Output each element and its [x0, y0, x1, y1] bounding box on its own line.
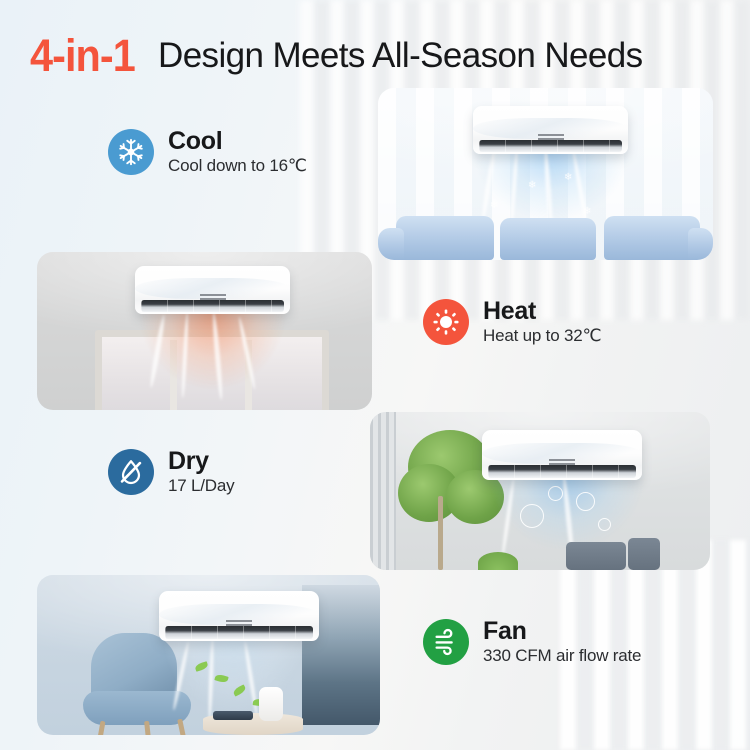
snow-particle: ❄	[490, 200, 498, 211]
headline-text: Design Meets All-Season Needs	[158, 36, 643, 76]
ac-unit	[135, 266, 290, 314]
remote-control	[213, 711, 253, 720]
feature-title: Heat	[483, 298, 601, 324]
photo-panel-heat	[37, 252, 372, 410]
window-frame	[95, 330, 329, 410]
floor-plant	[478, 552, 518, 570]
sofa-cushion	[628, 538, 660, 570]
window-pane	[252, 337, 322, 410]
infographic-stage: 4-in-1 Design Meets All-Season Needs ❄ ❄…	[0, 0, 750, 750]
snow-particle: ❄	[528, 180, 536, 191]
snowflake-icon	[108, 129, 154, 175]
moisture-bubble	[520, 504, 544, 528]
dry-wall-molding	[370, 412, 396, 570]
photo-panel-fan	[37, 575, 380, 735]
photo-panel-dry	[370, 412, 710, 570]
air-purifier	[259, 687, 283, 721]
feature-subtitle: 330 CFM air flow rate	[483, 646, 641, 666]
mountain-ridge	[302, 631, 380, 725]
feature-title: Fan	[483, 618, 641, 644]
feature-block-cool: Cool Cool down to 16℃	[108, 128, 307, 176]
chair-leg	[177, 719, 186, 735]
ac-vent	[488, 465, 635, 478]
ac-vent	[165, 626, 312, 639]
feature-block-heat: Heat Heat up to 32℃	[423, 298, 601, 346]
feature-subtitle: Heat up to 32℃	[483, 326, 601, 346]
feature-block-fan: Fan 330 CFM air flow rate	[423, 618, 641, 666]
feature-text-heat: Heat Heat up to 32℃	[483, 298, 601, 346]
feature-text-fan: Fan 330 CFM air flow rate	[483, 618, 641, 666]
wind-icon	[423, 619, 469, 665]
feature-title: Dry	[168, 448, 234, 474]
feature-text-cool: Cool Cool down to 16℃	[168, 128, 307, 176]
feature-subtitle: Cool down to 16℃	[168, 156, 307, 176]
ac-unit	[159, 591, 319, 641]
ac-vent	[479, 140, 622, 152]
snow-particle: ❄	[583, 206, 591, 217]
feature-block-dry: Dry 17 L/Day	[108, 448, 234, 496]
sofa-arm	[688, 228, 713, 260]
photo-panel-cool: ❄ ❄ ❄ ❄ ❄	[378, 88, 713, 260]
sofa-cushion	[604, 216, 700, 260]
sofa-cushion	[500, 218, 596, 260]
page-title: 4-in-1 Design Meets All-Season Needs	[30, 28, 730, 84]
feature-title: Cool	[168, 128, 307, 154]
feature-subtitle: 17 L/Day	[168, 476, 234, 496]
moisture-bubble	[576, 492, 595, 511]
headline-accent: 4-in-1	[30, 30, 135, 82]
water-drop-off-icon	[108, 449, 154, 495]
sofa-arm	[378, 228, 404, 260]
sun-icon	[423, 299, 469, 345]
sofa-seat	[566, 542, 626, 570]
tree-trunk	[438, 496, 443, 570]
ac-vent	[141, 300, 284, 312]
ac-unit	[473, 106, 628, 154]
plant-leaves	[478, 552, 518, 570]
snow-particle: ❄	[564, 172, 572, 183]
feature-text-dry: Dry 17 L/Day	[168, 448, 234, 496]
moisture-bubble	[548, 486, 563, 501]
moisture-bubble	[598, 518, 611, 531]
ac-unit	[482, 430, 642, 480]
sofa-cushion	[396, 216, 494, 260]
